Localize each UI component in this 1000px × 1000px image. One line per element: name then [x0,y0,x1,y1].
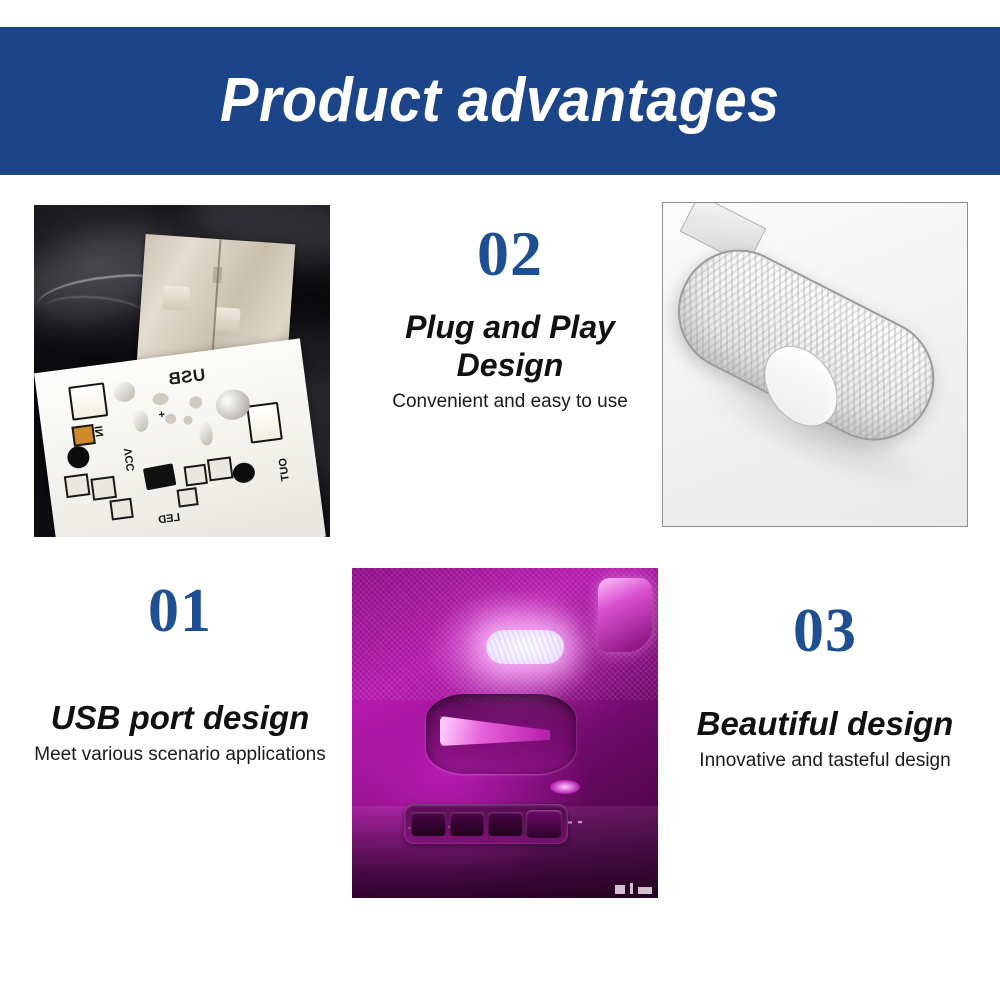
feature-title-03: Beautiful design [665,704,985,744]
feature-subtitle-02: Convenient and easy to use [345,391,675,414]
pcb-silkscreen-text: IN [93,425,106,437]
mirror-control-switch [526,810,562,838]
feature-number-02: 02 [345,222,675,286]
solder-blob [198,421,214,446]
crystal-diffuser-body [662,229,955,461]
solder-pad [177,487,199,507]
pcb-silkscreen-text: OUT [277,457,292,482]
usb-contact-window [213,307,241,333]
page-title: Product advantages [220,70,779,132]
usb-contact-window [162,285,190,311]
via-hole [165,413,177,424]
led-circuit-board: USB IN VCC + LED OUT [34,338,326,537]
through-hole-pad [66,445,91,470]
header-banner: Product advantages [0,27,1000,175]
feature-number-01: 01 [10,580,350,642]
feature-subtitle-01: Meet various scenario applications [10,744,350,767]
feature-title-01: USB port design [10,698,350,738]
resistor-component [71,424,95,447]
solder-blob [214,388,252,422]
window-switch-key [411,812,446,836]
feature-block-01: 01 USB port design Meet various scenario… [10,580,350,766]
watermark-mark [615,883,652,894]
product-photo-usb-board: USB IN VCC + LED OUT [34,205,330,537]
solder-blob [112,380,136,403]
solder-pad [109,498,133,521]
feature-number-03: 03 [665,600,985,662]
pcb-usb-silkscreen-label: USB [167,365,207,390]
product-photo-car-interior [352,568,658,898]
pcb-silkscreen-text: LED [158,512,181,527]
feature-title-02: Plug and Play Design [345,308,675,385]
solder-pad [207,456,234,481]
feature-subtitle-03: Innovative and tasteful design [665,750,985,773]
through-hole-pad [232,461,256,484]
feature-block-02: 02 Plug and Play Design Convenient and e… [345,222,675,414]
solder-pad [184,464,208,487]
via-hole [183,415,193,425]
driver-ic-chip [143,463,177,490]
solder-pad [90,476,117,501]
door-handle-recess [426,694,576,774]
product-photo-crystal-led [662,202,968,527]
via-hole [189,396,203,410]
watermark-glyph [615,885,625,894]
smd-led [68,382,108,420]
watermark-glyph [638,887,652,894]
door-handle [440,716,550,746]
pcb-silkscreen-text: VCC [122,447,137,472]
feature-block-03: 03 Beautiful design Innovative and taste… [665,600,985,772]
ambient-light-reflection [550,780,580,794]
watermark-glyph [630,883,633,894]
window-switch-panel [404,804,568,844]
via-hole [152,392,169,406]
solder-pad [64,473,91,498]
window-switch-key [488,812,523,836]
installed-led-light [486,630,564,664]
pcb-silkscreen-text: + [158,409,166,422]
door-pillar-trim [598,578,652,652]
usb-retention-tab [212,267,222,284]
solder-blob [132,409,150,433]
window-switch-key [450,812,485,836]
smd-led [246,402,283,444]
